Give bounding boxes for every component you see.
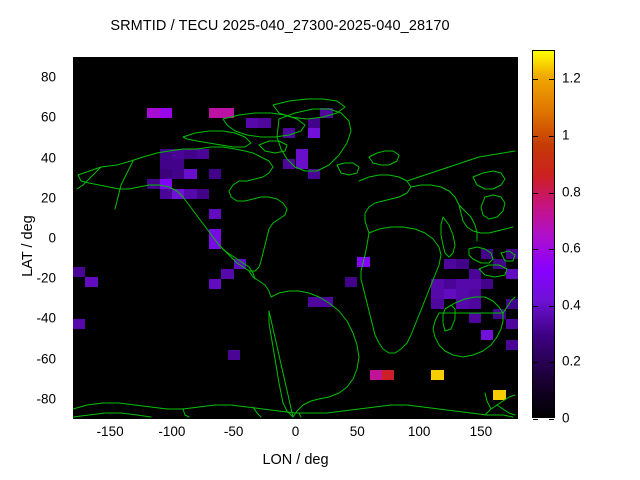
y-tick-label: -60 xyxy=(36,351,56,366)
colorbar-tick-mark xyxy=(549,249,554,250)
colorbar-tick-label: 0.6 xyxy=(562,241,581,256)
colorbar xyxy=(532,50,555,418)
colorbar-tick-mark xyxy=(549,193,554,194)
x-tick-label: 150 xyxy=(470,424,493,439)
colorbar-tick-label: 0.2 xyxy=(562,354,581,369)
colorbar-tick-mark xyxy=(549,306,554,307)
colorbar-tick-mark xyxy=(549,136,554,137)
y-tick-label: -20 xyxy=(36,271,56,286)
y-axis-title: LAT / deg xyxy=(20,156,36,336)
colorbar-tick-mark xyxy=(533,249,538,250)
y-tick-label: 80 xyxy=(41,70,56,85)
colorbar-tick-label: 0.4 xyxy=(562,297,581,312)
colorbar-tick-mark xyxy=(533,136,538,137)
x-tick-label: -100 xyxy=(158,424,185,439)
colorbar-tick-mark xyxy=(533,79,538,80)
colorbar-tick-mark xyxy=(533,362,538,363)
colorbar-tick-label: 1.2 xyxy=(562,71,581,86)
colorbar-tick-label: 0 xyxy=(562,411,570,426)
map-plot-area xyxy=(73,57,518,419)
page-title: SRMTID / TECU 2025-040_27300-2025-040_28… xyxy=(0,18,560,34)
y-tick-label: 20 xyxy=(41,190,56,205)
y-tick-label: 60 xyxy=(41,110,56,125)
x-tick-label: 100 xyxy=(408,424,431,439)
coastline-map xyxy=(73,57,518,419)
x-axis-title: LON / deg xyxy=(73,452,518,468)
y-tick-label: 40 xyxy=(41,150,56,165)
y-tick-label: -40 xyxy=(36,311,56,326)
colorbar-tick-mark xyxy=(549,362,554,363)
colorbar-tick-mark xyxy=(533,193,538,194)
x-tick-label: 0 xyxy=(292,424,300,439)
x-tick-label: 50 xyxy=(350,424,365,439)
colorbar-tick-mark xyxy=(549,79,554,80)
colorbar-tick-mark xyxy=(549,419,554,420)
y-tick-label: -80 xyxy=(36,391,56,406)
y-tick-label: 0 xyxy=(48,231,56,246)
colorbar-tick-label: 1 xyxy=(562,127,570,142)
x-tick-label: -150 xyxy=(97,424,124,439)
colorbar-tick-mark xyxy=(533,419,538,420)
colorbar-tick-mark xyxy=(533,306,538,307)
colorbar-tick-label: 0.8 xyxy=(562,184,581,199)
x-tick-label: -50 xyxy=(224,424,244,439)
